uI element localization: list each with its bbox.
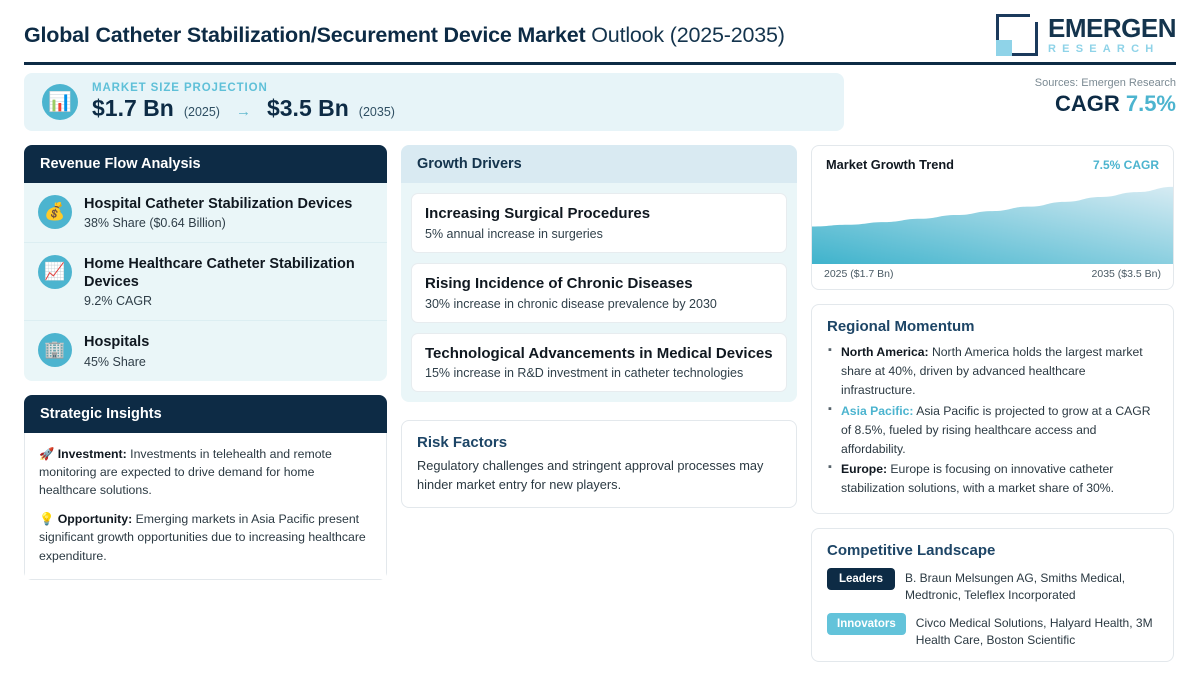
revenue-flow-panel: Revenue Flow Analysis 💰 Hospital Cathete… [24, 145, 387, 381]
insight-label: Opportunity: [58, 512, 132, 526]
region-name: North America: [841, 345, 929, 359]
page-title-strong: Global Catheter Stabilization/Securement… [24, 23, 586, 47]
growth-driver-sub: 15% increase in R&D investment in cathet… [425, 366, 773, 380]
revenue-flow-heading: Revenue Flow Analysis [24, 145, 387, 183]
right-column: Market Growth Trend 7.5% CAGR [811, 145, 1174, 676]
regional-momentum-list: North America: North America holds the l… [827, 343, 1158, 498]
page-header: Global Catheter Stabilization/Securement… [24, 0, 1176, 56]
chart-cagr-annotation: 7.5% CAGR [1093, 158, 1159, 172]
chart-plot-area [812, 178, 1173, 264]
market-size-label: MARKET SIZE PROJECTION [92, 82, 395, 94]
rocket-icon: 🚀 [39, 447, 54, 461]
region-name: Asia Pacific: [841, 404, 913, 418]
chart-xlabel-left: 2025 ($1.7 Bn) [824, 268, 893, 280]
competitive-landscape-card: Competitive Landscape Leaders B. Braun M… [811, 528, 1174, 662]
logo-main-text: EMERGEN [1048, 15, 1176, 41]
revenue-row-title: Home Healthcare Catheter Stabilization D… [84, 255, 373, 291]
bar-chart-icon: 📊 [42, 84, 78, 120]
insight-item: 🚀 Investment: Investments in telehealth … [39, 445, 372, 500]
arrow-right-icon: → [230, 103, 257, 120]
insight-label: Investment: [58, 447, 127, 461]
page-title-rest: Outlook (2025-2035) [586, 23, 785, 47]
chart-xlabel-right: 2035 ($3.5 Bn) [1092, 268, 1161, 280]
growth-drivers-panel: Growth Drivers Increasing Surgical Proce… [401, 145, 797, 402]
hospital-building-icon: 🏢 [38, 333, 72, 367]
revenue-row: 📈 Home Healthcare Catheter Stabilization… [24, 243, 387, 321]
competitive-landscape-heading: Competitive Landscape [827, 542, 1158, 559]
status-badge-leaders: Leaders [827, 568, 895, 590]
growth-driver-sub: 30% increase in chronic disease prevalen… [425, 297, 773, 311]
chart-header: Market Growth Trend 7.5% CAGR [812, 157, 1173, 178]
cagr-label: CAGR [1055, 91, 1120, 116]
growth-driver-card: Technological Advancements in Medical De… [411, 333, 787, 393]
market-growth-trend-chart: Market Growth Trend 7.5% CAGR [811, 145, 1174, 290]
infographic-page: Global Catheter Stabilization/Securement… [0, 0, 1200, 700]
cagr-headline: CAGR 7.5% [1035, 91, 1176, 117]
cagr-value: 7.5% [1126, 91, 1176, 116]
revenue-row-sub: 45% Share [84, 355, 149, 369]
market-value-start: $1.7 Bn [92, 95, 174, 122]
strategic-insights-heading: Strategic Insights [24, 395, 387, 433]
growth-driver-title: Increasing Surgical Procedures [425, 205, 773, 224]
revenue-row-sub: 38% Share ($0.64 Billion) [84, 216, 352, 230]
regional-momentum-heading: Regional Momentum [827, 318, 1158, 335]
growth-driver-sub: 5% annual increase in surgeries [425, 227, 773, 241]
market-size-banner-inner: 📊 MARKET SIZE PROJECTION $1.7 Bn (2025) … [24, 73, 844, 131]
chart-title: Market Growth Trend [826, 157, 954, 172]
header-divider [24, 62, 1176, 65]
market-year-end: (2035) [359, 105, 395, 119]
growth-driver-card: Rising Incidence of Chronic Diseases 30%… [411, 263, 787, 323]
regional-momentum-card: Regional Momentum North America: North A… [811, 304, 1174, 514]
market-year-start: (2025) [184, 105, 220, 119]
region-item: Europe: Europe is focusing on innovative… [827, 460, 1158, 498]
growth-driver-title: Rising Incidence of Chronic Diseases [425, 275, 773, 294]
strategic-insights-panel: Strategic Insights 🚀 Investment: Investm… [24, 395, 387, 581]
middle-column: Growth Drivers Increasing Surgical Proce… [401, 145, 797, 522]
competitive-row: Innovators Civco Medical Solutions, Haly… [827, 613, 1158, 649]
risk-factors-heading: Risk Factors [417, 434, 781, 451]
competitive-companies: B. Braun Melsungen AG, Smiths Medical, M… [905, 568, 1158, 604]
left-column: Revenue Flow Analysis 💰 Hospital Cathete… [24, 145, 387, 594]
status-badge-innovators: Innovators [827, 613, 906, 635]
insight-item: 💡 Opportunity: Emerging markets in Asia … [39, 510, 372, 565]
revenue-row: 🏢 Hospitals 45% Share [24, 321, 387, 380]
risk-factors-text: Regulatory challenges and stringent appr… [417, 457, 781, 494]
strategic-insights-body: 🚀 Investment: Investments in telehealth … [24, 433, 387, 581]
growth-driver-card: Increasing Surgical Procedures 5% annual… [411, 193, 787, 253]
region-item: Asia Pacific: Asia Pacific is projected … [827, 402, 1158, 459]
lightbulb-icon: 💡 [39, 512, 54, 526]
logo-sub-text: RESEARCH [1048, 44, 1176, 55]
sources-text: Sources: Emergen Research [1035, 77, 1176, 89]
competitive-companies: Civco Medical Solutions, Halyard Health,… [916, 613, 1158, 649]
revenue-row-sub: 9.2% CAGR [84, 294, 373, 308]
logo-wordmark: EMERGEN RESEARCH [1048, 15, 1176, 55]
chart-axis-labels: 2025 ($1.7 Bn) 2035 ($3.5 Bn) [812, 264, 1173, 289]
region-item: North America: North America holds the l… [827, 343, 1158, 400]
content-columns: Revenue Flow Analysis 💰 Hospital Cathete… [24, 145, 1176, 676]
market-value-end: $3.5 Bn [267, 95, 349, 122]
growth-chart-icon: 📈 [38, 255, 72, 289]
growth-drivers-heading: Growth Drivers [401, 145, 797, 183]
sources-and-cagr: Sources: Emergen Research CAGR 7.5% [1035, 77, 1176, 117]
emergen-research-logo: EMERGEN RESEARCH [996, 14, 1176, 56]
page-title: Global Catheter Stabilization/Securement… [24, 23, 785, 48]
market-size-banner: 📊 MARKET SIZE PROJECTION $1.7 Bn (2025) … [24, 73, 1176, 131]
revenue-row-title: Hospital Catheter Stabilization Devices [84, 195, 352, 213]
growth-drivers-body: Increasing Surgical Procedures 5% annual… [401, 183, 797, 402]
competitive-row: Leaders B. Braun Melsungen AG, Smiths Me… [827, 568, 1158, 604]
market-size-values: $1.7 Bn (2025) → $3.5 Bn (2035) [92, 95, 395, 122]
revenue-row: 💰 Hospital Catheter Stabilization Device… [24, 183, 387, 243]
chart-svg [812, 178, 1173, 264]
money-bag-icon: 💰 [38, 195, 72, 229]
logo-square-icon [996, 14, 1038, 56]
growth-driver-title: Technological Advancements in Medical De… [425, 345, 773, 364]
region-name: Europe: [841, 462, 887, 476]
revenue-row-title: Hospitals [84, 333, 149, 351]
revenue-flow-body: 💰 Hospital Catheter Stabilization Device… [24, 183, 387, 381]
risk-factors-card: Risk Factors Regulatory challenges and s… [401, 420, 797, 508]
